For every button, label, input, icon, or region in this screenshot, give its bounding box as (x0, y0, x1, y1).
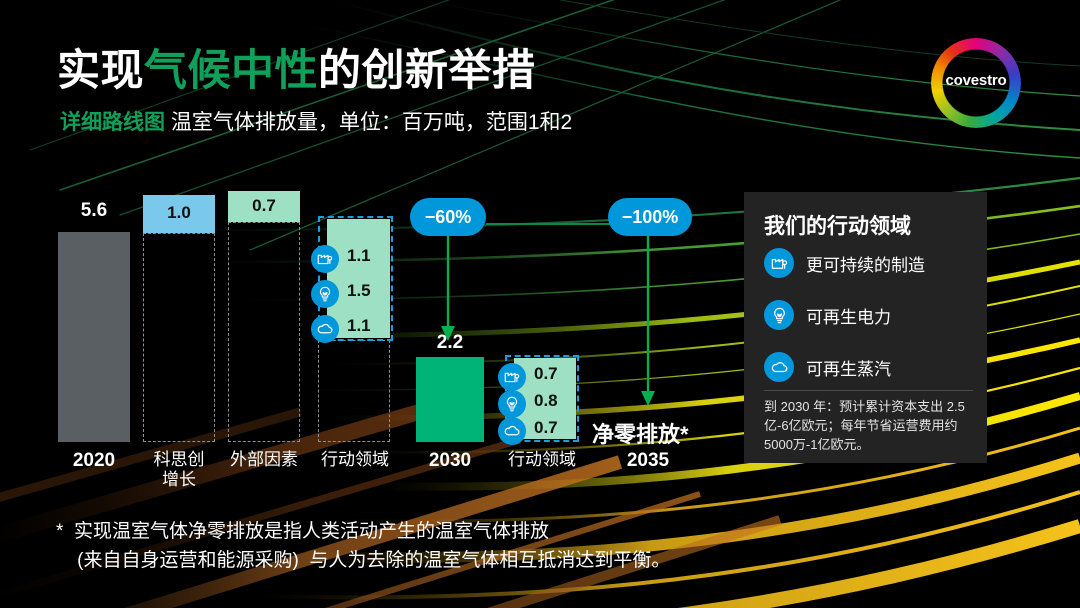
panel-divider (764, 390, 973, 391)
bar-ghost-growth (143, 233, 215, 442)
reduction-badge-2030: −60% (410, 198, 486, 236)
net-zero-label: 净零排放* (592, 417, 689, 449)
slide-root: covestro 实现气候中性的创新举措 详细路线图 温室气体排放量，单位：百万… (0, 0, 1080, 608)
segment-value-af2-steam: 0.7 (534, 418, 558, 438)
logo-wordmark: covestro (931, 72, 1021, 89)
bar-2030 (416, 357, 484, 442)
axis-label-2035: 2035 (606, 450, 690, 472)
factory-icon (311, 245, 339, 273)
axis-label-2020: 2020 (50, 450, 138, 472)
panel-item-manufacturing: 更可持续的制造 (764, 248, 925, 278)
bar-value-2020: 5.6 (56, 200, 132, 222)
reduction-badge-2035: −100% (608, 198, 692, 236)
panel-item-label: 可再生蒸汽 (806, 355, 891, 380)
panel-item-electricity: 可再生电力 (764, 300, 891, 330)
bar-ghost-actionfields-1 (318, 340, 390, 442)
axis-label-actionfields-1: 行动领域 (312, 450, 398, 470)
axis-label-growth: 科思创增长 (138, 450, 220, 489)
covestro-logo: covestro (931, 38, 1021, 128)
lightbulb-icon (764, 300, 794, 330)
bar-value-2030: 2.2 (414, 332, 486, 354)
segment-value-af1-manufacturing: 1.1 (347, 246, 371, 266)
panel-item-label: 更可持续的制造 (806, 251, 925, 276)
axis-label-external: 外部因素 (222, 450, 306, 470)
bar-2020 (58, 232, 130, 442)
action-fields-panel: 我们的行动领域 更可持续的制造 可再生电力 (744, 192, 987, 463)
factory-icon (764, 248, 794, 278)
segment-value-af1-electricity: 1.5 (347, 281, 371, 301)
bar-ghost-external (228, 222, 300, 442)
segment-value-af2-manufacturing: 0.7 (534, 364, 558, 384)
panel-item-label: 可再生电力 (806, 303, 891, 328)
axis-label-2030: 2030 (408, 450, 492, 472)
panel-note: 到 2030 年：预计累计资本支出 2.5亿-6亿欧元；每年节省运营费用约500… (764, 398, 975, 455)
cloud-icon (764, 352, 794, 382)
waterfall-chart: 5.6 1.0 0.7 1.1 1.5 1.1 (0, 0, 740, 500)
panel-heading: 我们的行动领域 (764, 210, 911, 240)
lightbulb-icon (311, 280, 339, 308)
axis-label-actionfields-2: 行动领域 (498, 450, 586, 470)
bar-value-external: 0.7 (228, 196, 300, 216)
cloud-icon (311, 315, 339, 343)
factory-icon (498, 363, 526, 391)
cloud-icon (498, 417, 526, 445)
lightbulb-icon (498, 390, 526, 418)
panel-item-steam: 可再生蒸汽 (764, 352, 891, 382)
footnote: * 实现温室气体净零排放是指人类活动产生的温室气体排放 (来自自身运营和能源采购… (56, 518, 670, 575)
segment-value-af1-steam: 1.1 (347, 316, 371, 336)
bar-value-growth: 1.0 (143, 203, 215, 223)
segment-value-af2-electricity: 0.8 (534, 391, 558, 411)
